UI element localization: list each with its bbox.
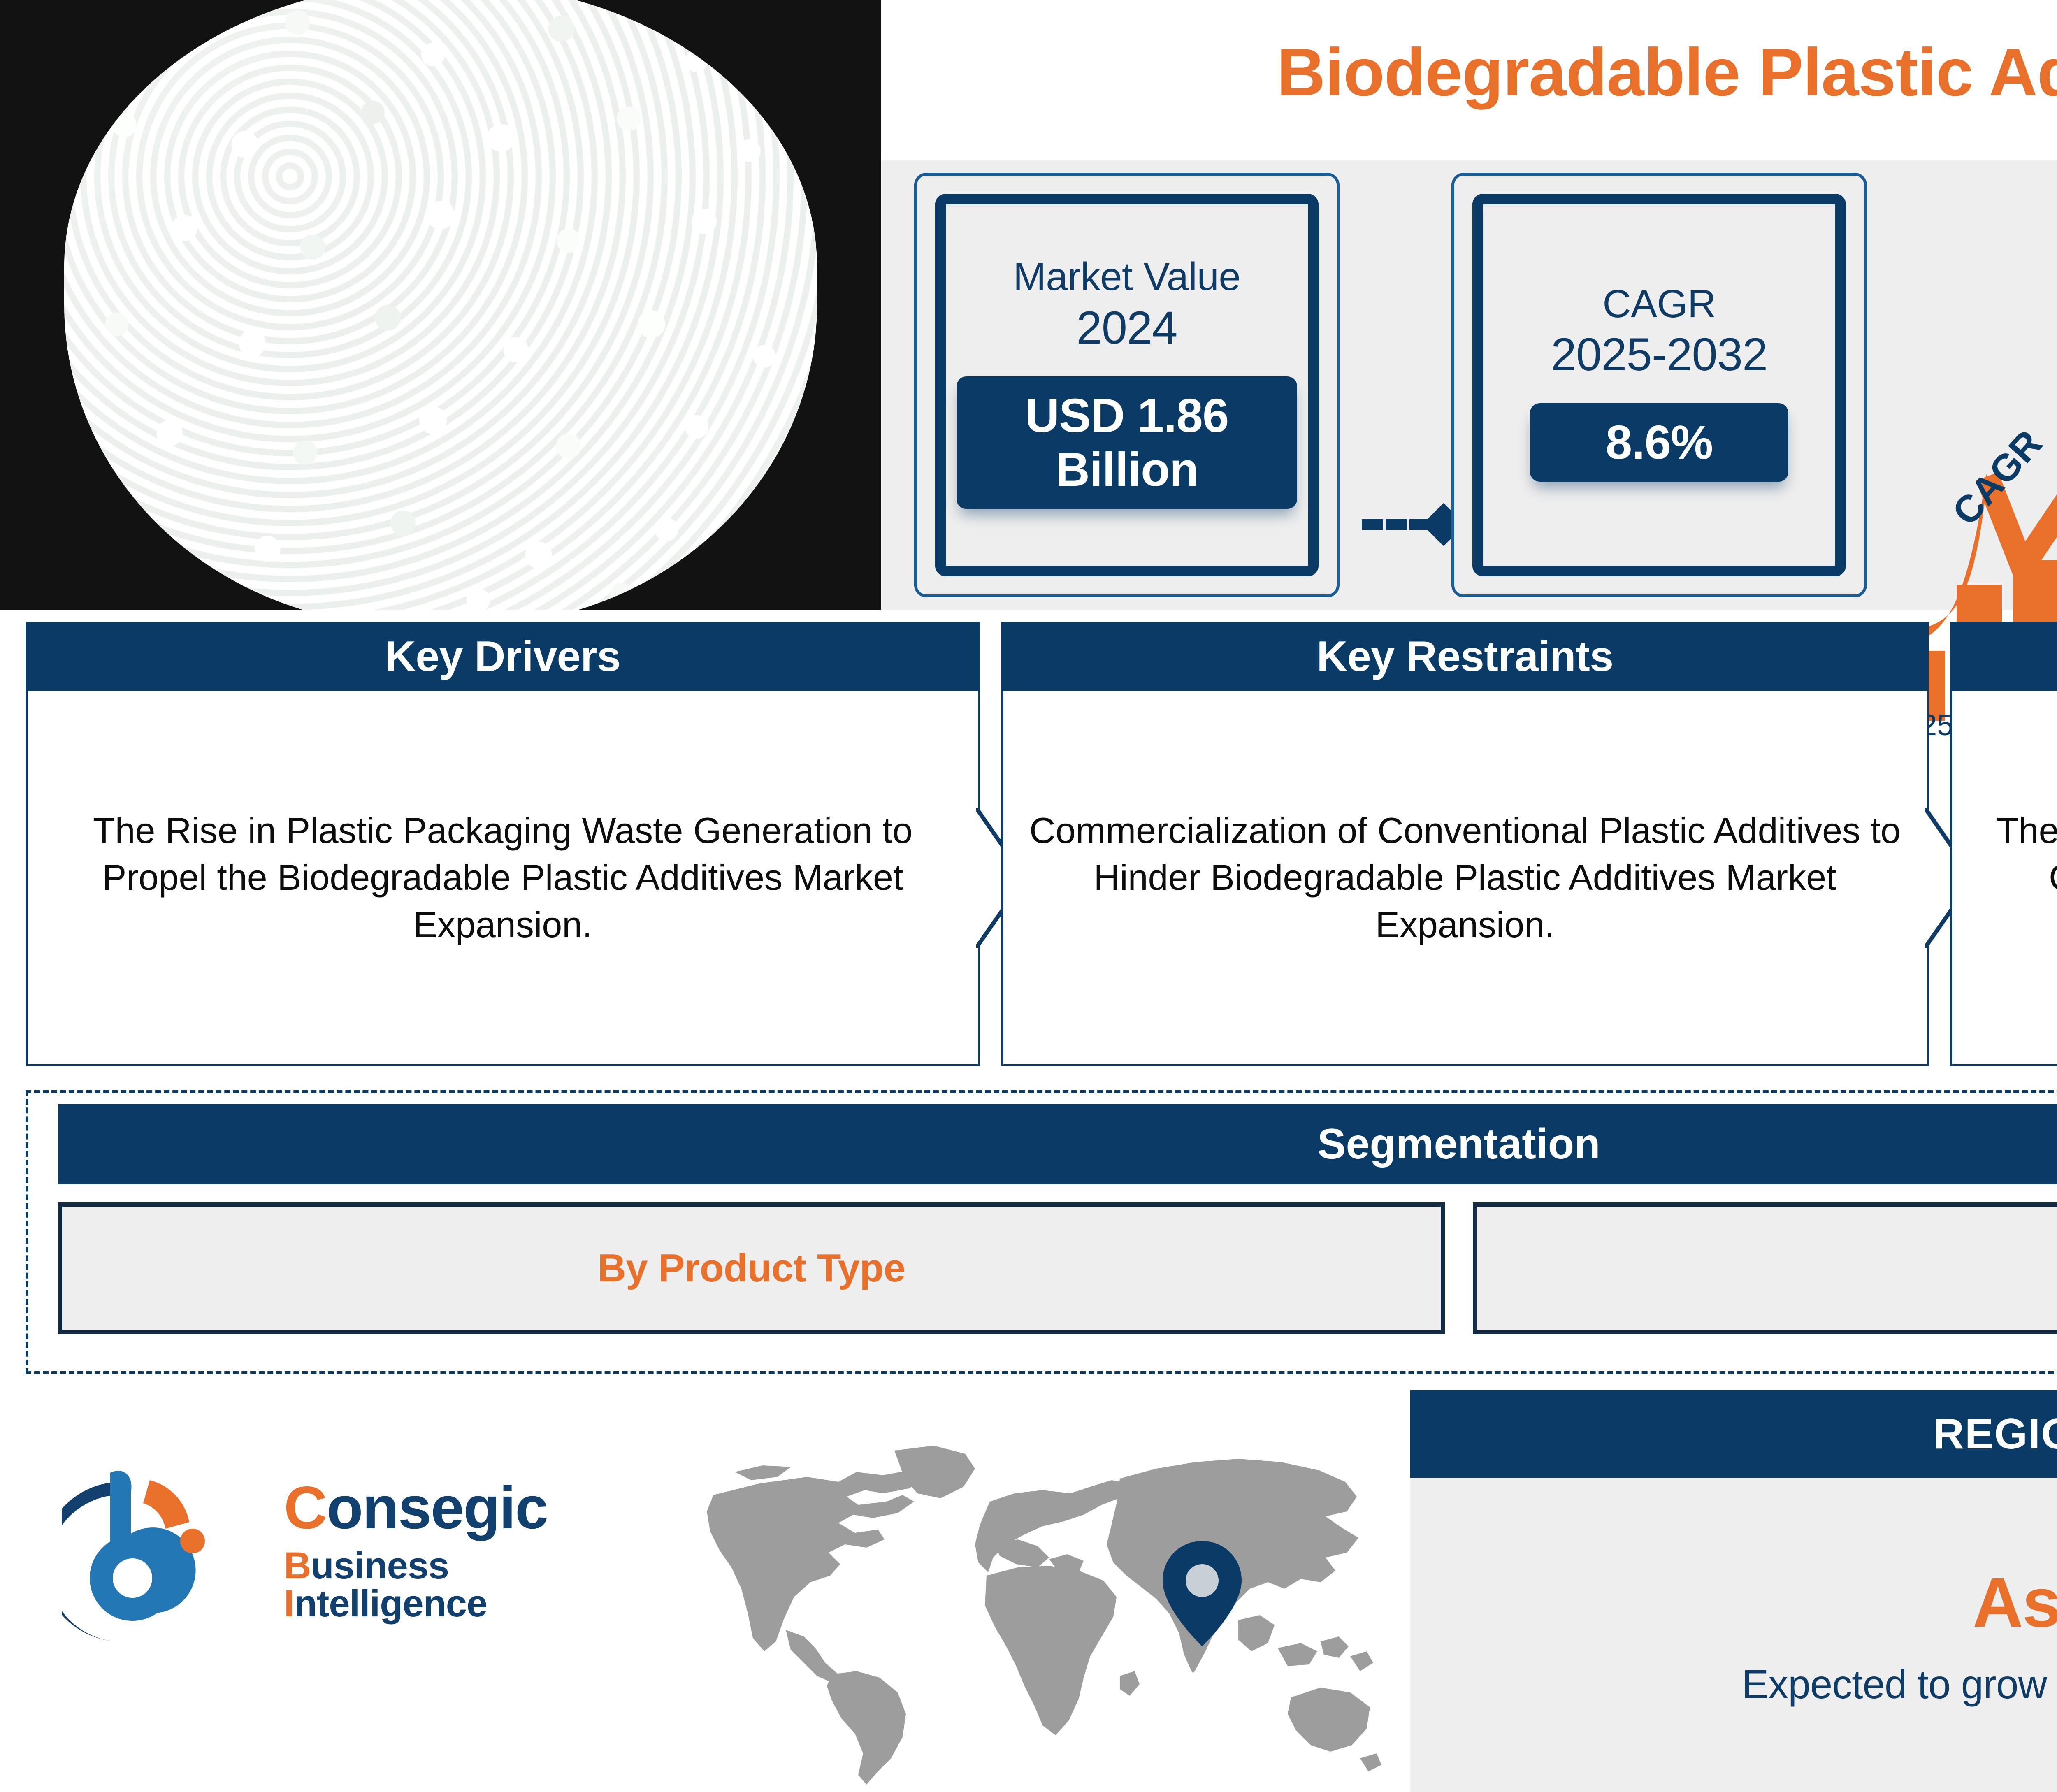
card-text: Commercialization of Conventional Plasti… — [1029, 807, 1901, 948]
card-body: Commercialization of Conventional Plasti… — [1001, 691, 1929, 1066]
regional-note: Expected to grow with the highest CAGR g… — [1742, 1661, 2057, 1708]
regional-analysis-heading: REGIONAL ANALYSIS — [1410, 1390, 2057, 1478]
stat-label: CAGR — [1602, 282, 1716, 326]
key-insight-cards: Key Drivers The Rise in Plastic Packagin… — [0, 622, 2057, 1066]
brand-name: Consegic — [284, 1478, 548, 1538]
card-future-opportunities: Future Opportunities The Rise in the Ado… — [1950, 622, 2057, 1066]
brand-tagline-word-business: usiness — [311, 1545, 449, 1587]
card-body: The Rise in the Adoption of Electric Veh… — [1950, 691, 2057, 1066]
brand-tagline-initial-b: B — [284, 1545, 311, 1587]
regional-analysis-section: REGIONAL ANALYSIS Asia Pacific Expected … — [1410, 1390, 2057, 1792]
segment-by-product-type[interactable]: By Product Type — [58, 1202, 1445, 1334]
page-title: Biodegradable Plastic Additives Market — [881, 34, 2057, 111]
consegic-b-logo-icon — [62, 1460, 276, 1641]
card-key-drivers: Key Drivers The Rise in Plastic Packagin… — [26, 622, 980, 1066]
world-map-icon — [662, 1436, 1386, 1790]
card-body: The Rise in Plastic Packaging Waste Gene… — [26, 691, 980, 1066]
stat-card-inner: CAGR 2025-2032 8.6% — [1472, 194, 1846, 576]
top-band: Biodegradable Plastic Additives Market M… — [0, 0, 2057, 610]
card-key-restraints: Key Restraints Commercialization of Conv… — [1001, 622, 1929, 1066]
brand-name-rest: onsegic — [326, 1474, 548, 1541]
card-text: The Rise in Plastic Packaging Waste Gene… — [53, 807, 952, 948]
card-heading: Future Opportunities — [1950, 622, 2057, 691]
segmentation-box-row: By Product Type By End Use — [58, 1202, 2057, 1334]
dashed-line — [1362, 519, 1431, 530]
brand-logo: Consegic Business Intelligence — [62, 1465, 646, 1637]
stat-value-pill: USD 1.86 Billion — [957, 376, 1297, 509]
stat-value-pill: 8.6% — [1530, 403, 1788, 482]
segmentation-section: Segmentation By Product Type By End Use — [26, 1090, 2057, 1374]
brand-tagline-initial-i: I — [284, 1583, 294, 1625]
plastic-pellets-photo — [64, 0, 817, 610]
card-heading: Key Drivers — [26, 622, 980, 691]
card-heading: Key Restraints — [1001, 622, 1929, 691]
stat-year: 2024 — [1076, 302, 1177, 354]
footer-band: Consegic Business Intelligence — [0, 1390, 2057, 1792]
location-pin-icon — [1163, 1541, 1242, 1646]
stat-card-inner: Market Value 2024 USD 1.86 Billion — [935, 194, 1319, 576]
stat-period: 2025-2032 — [1551, 328, 1768, 381]
regional-region-name: Asia Pacific — [1973, 1562, 2057, 1643]
card-text: The Rise in the Adoption of Electric Veh… — [1978, 807, 2057, 948]
brand-tagline-word-intelligence: ntelligence — [294, 1583, 488, 1625]
stat-label: Market Value — [1013, 255, 1240, 299]
brand-name-initial: C — [284, 1474, 326, 1541]
stats-strip: Biodegradable Plastic Additives Market M… — [881, 0, 2057, 610]
brand-tagline: Business Intelligence — [284, 1547, 646, 1623]
connector-left — [1362, 518, 1459, 532]
stat-card-market-value-2024: Market Value 2024 USD 1.86 Billion — [914, 173, 1340, 597]
segment-by-end-use[interactable]: By End Use — [1473, 1202, 2057, 1334]
regional-analysis-body: Asia Pacific Expected to grow with the h… — [1410, 1478, 2057, 1792]
stat-card-cagr: CAGR 2025-2032 8.6% — [1451, 173, 1867, 597]
segmentation-heading: Segmentation — [58, 1104, 2057, 1184]
stats-gray-band: Market Value 2024 USD 1.86 Billion CAGR … — [881, 160, 2057, 610]
hero-product-photo — [0, 0, 881, 610]
